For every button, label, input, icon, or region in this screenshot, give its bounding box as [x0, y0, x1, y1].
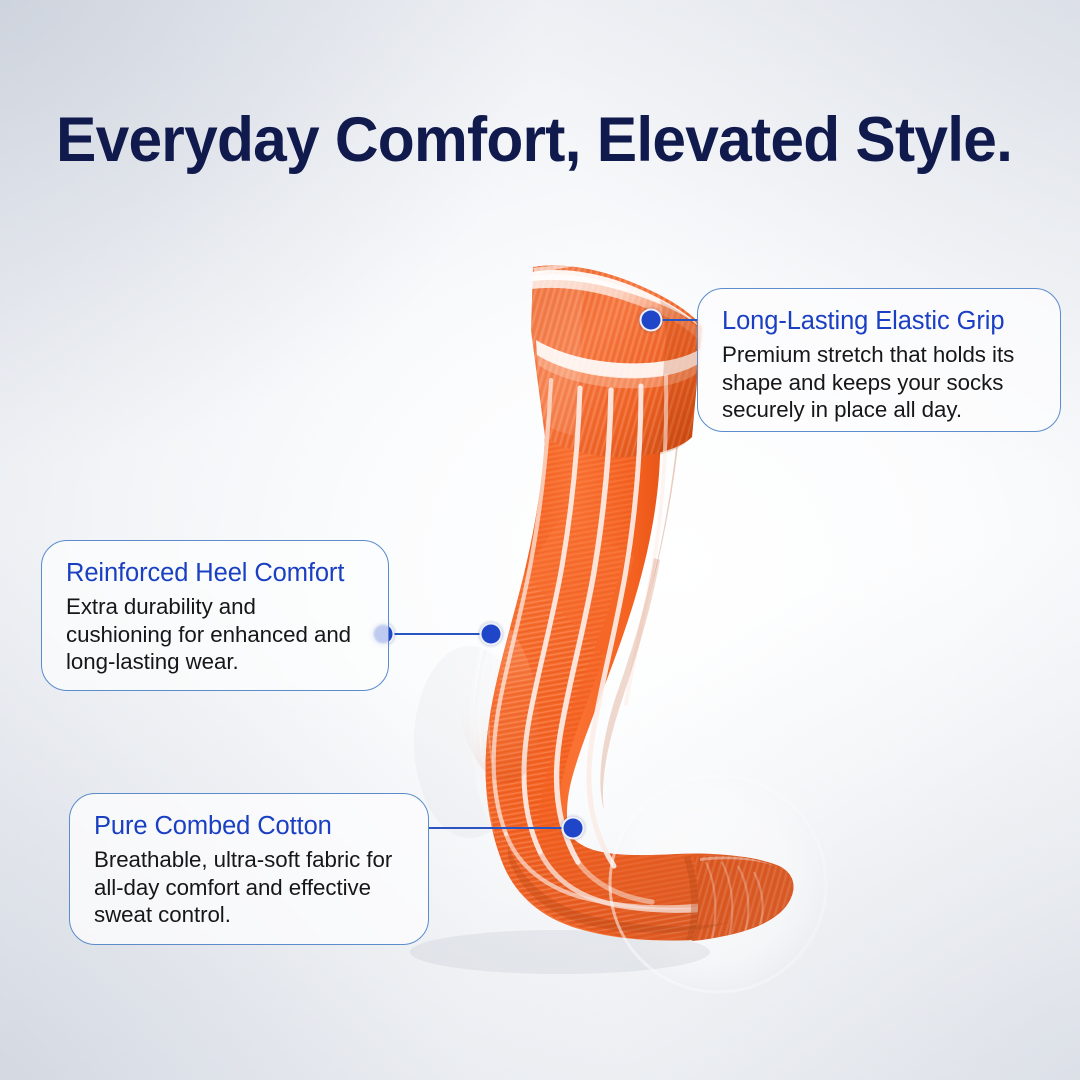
page-title: Everyday Comfort, Elevated Style. [56, 106, 1012, 174]
callout-heel-comfort[interactable]: Reinforced Heel Comfort Extra durability… [41, 540, 389, 691]
callout-body-combed-cotton: Breathable, ultra-soft fabric for all-da… [94, 846, 406, 929]
callout-combed-cotton[interactable]: Pure Combed Cotton Breathable, ultra-sof… [69, 793, 429, 945]
connector-dot-elastic-grip[interactable] [640, 309, 663, 332]
infographic-canvas: Everyday Comfort, Elevated Style. Long-L… [0, 0, 1080, 1080]
callout-body-elastic-grip: Premium stretch that holds its shape and… [722, 341, 1038, 424]
connector-dot-combed-cotton[interactable] [562, 817, 585, 840]
connector-line-heel-comfort [383, 633, 491, 635]
callout-heading-combed-cotton: Pure Combed Cotton [94, 811, 406, 842]
callout-elastic-grip[interactable]: Long-Lasting Elastic Grip Premium stretc… [697, 288, 1061, 432]
callout-heading-heel-comfort: Reinforced Heel Comfort [66, 558, 366, 589]
connector-dot-heel-comfort-b[interactable] [480, 623, 503, 646]
callout-body-heel-comfort: Extra durability and cushioning for enha… [66, 593, 366, 676]
callout-heading-elastic-grip: Long-Lasting Elastic Grip [722, 306, 1038, 337]
connector-line-combed-cotton [428, 827, 574, 829]
